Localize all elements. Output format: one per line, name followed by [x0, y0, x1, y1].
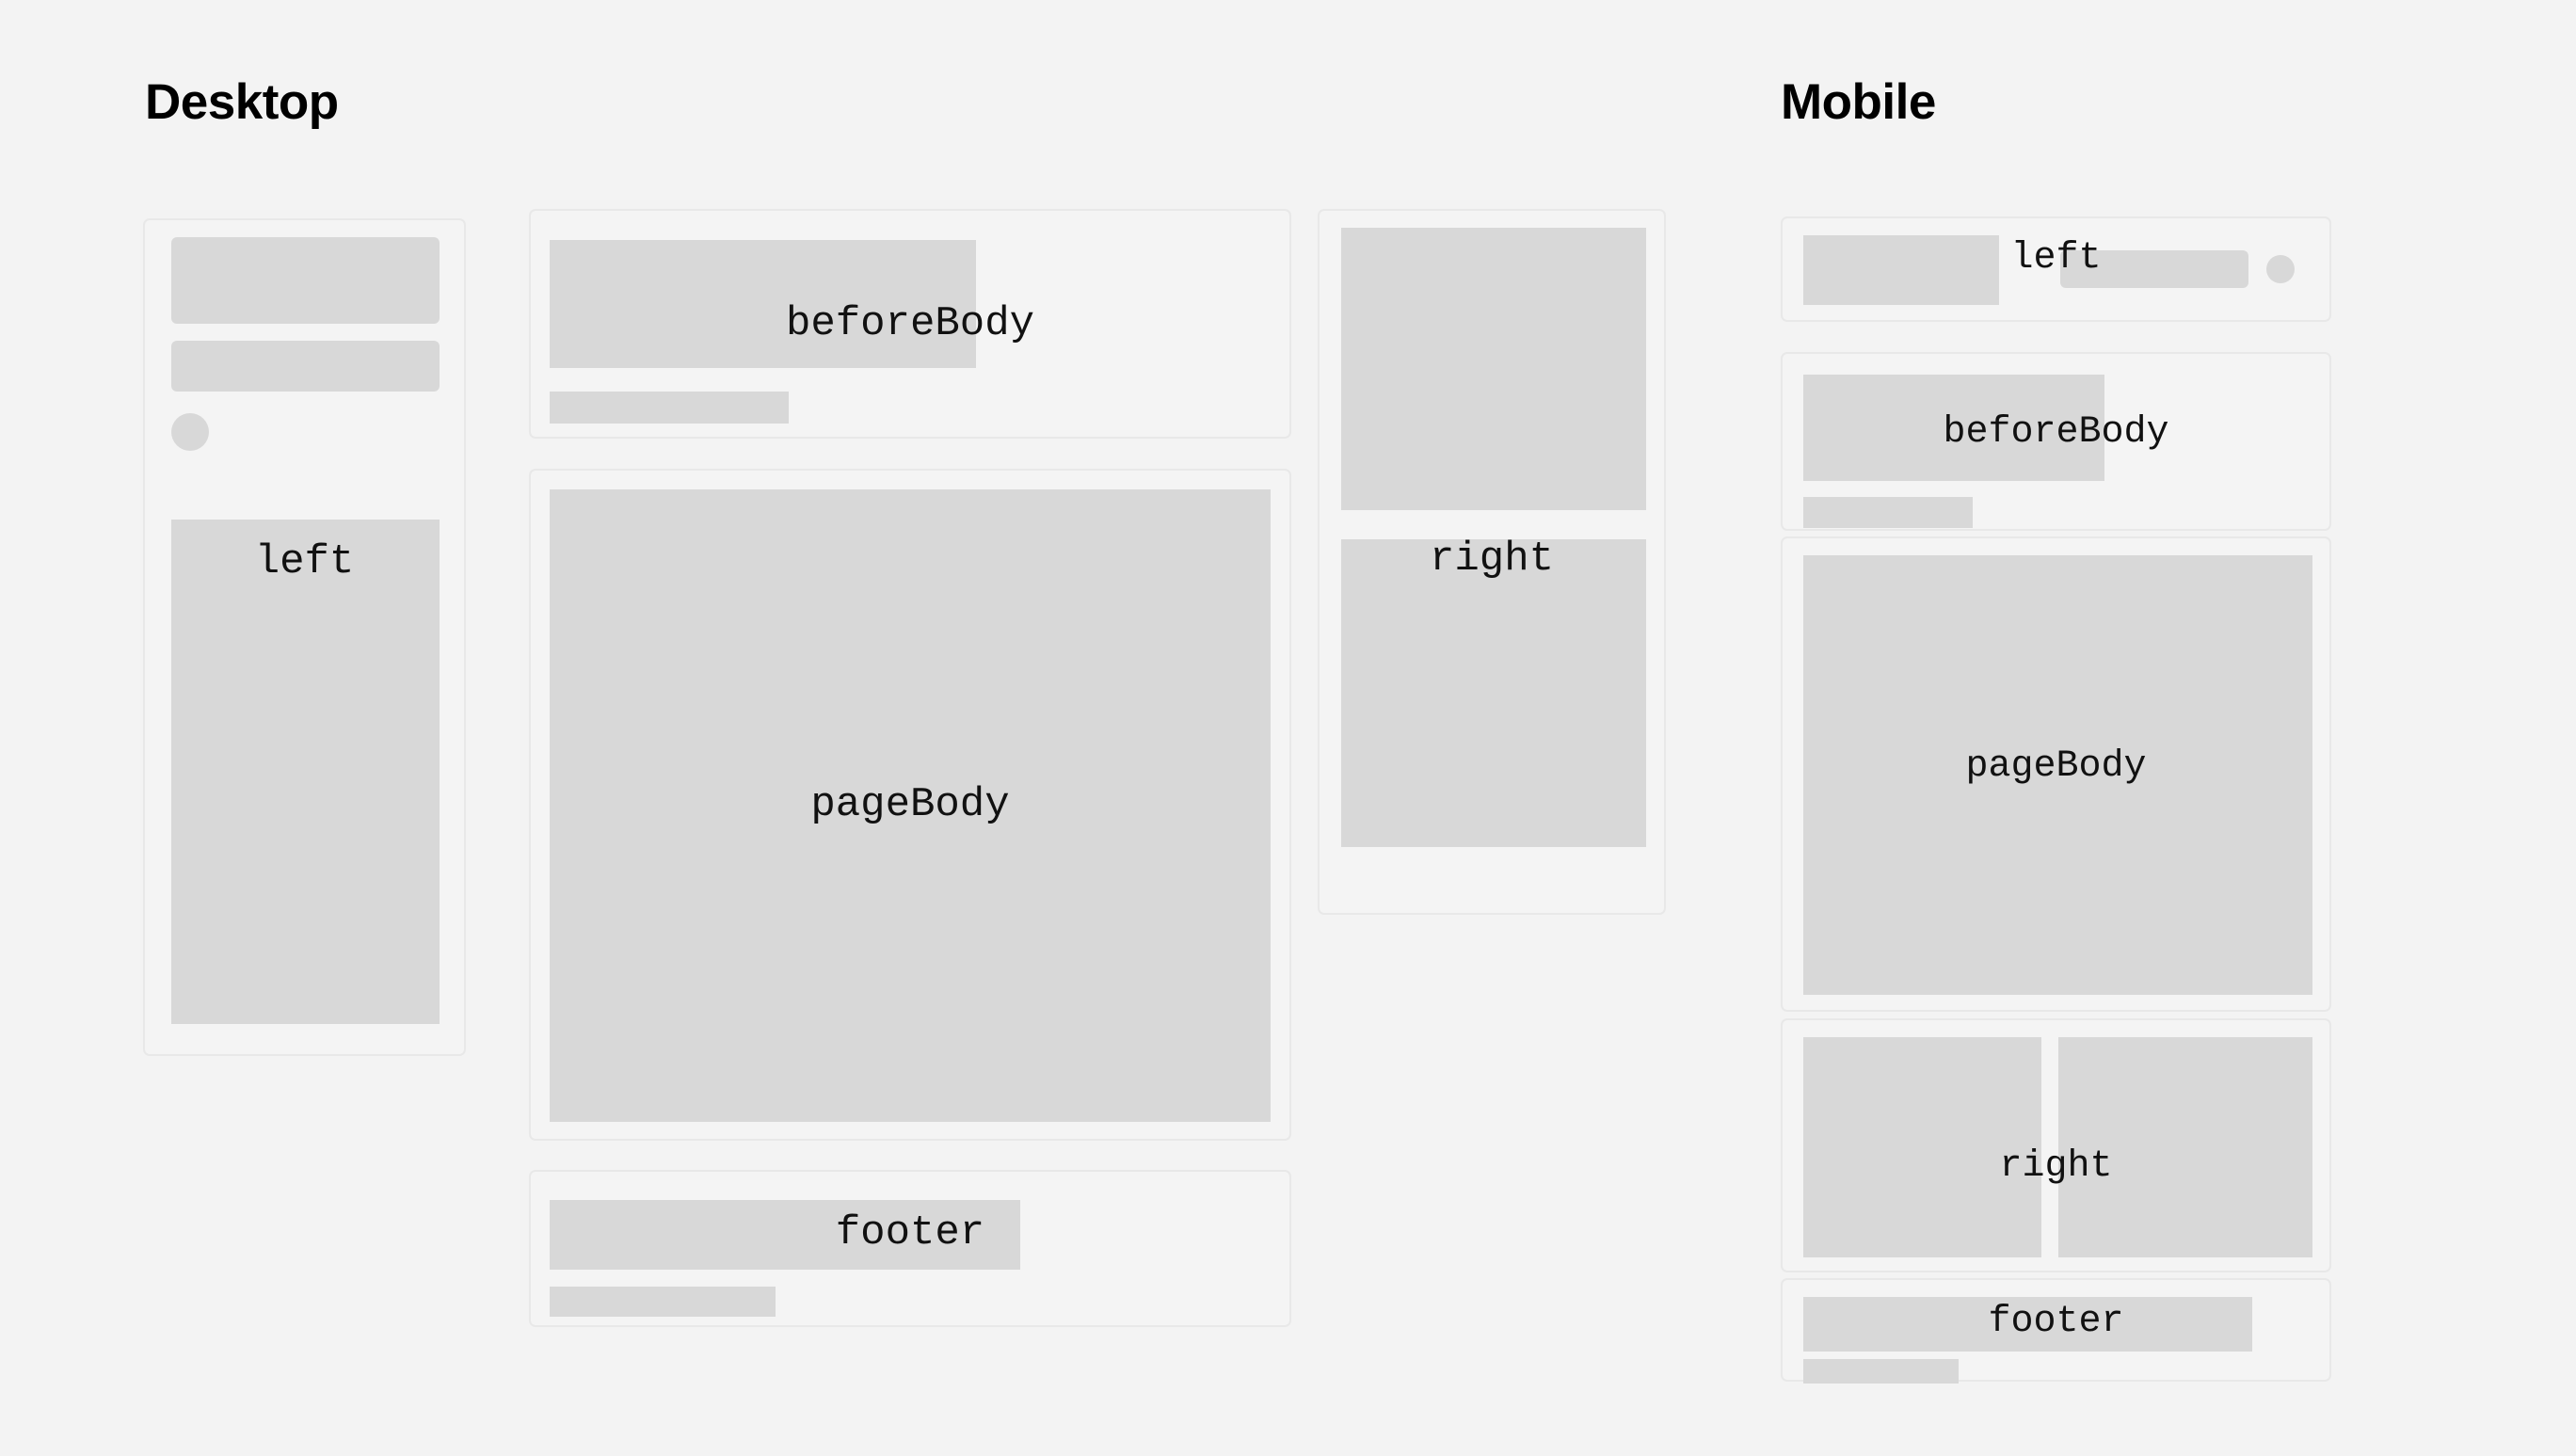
desktop-right-rail-block-top	[1341, 228, 1646, 510]
mobile-page-body-panel[interactable]	[1781, 536, 2331, 1012]
desktop-sidebar-nav-block	[171, 520, 440, 1024]
desktop-right-rail-panel[interactable]	[1318, 209, 1666, 915]
mobile-page-body-content-block	[1803, 555, 2312, 995]
desktop-sidebar-header-block	[171, 237, 440, 324]
desktop-section-title: Desktop	[145, 77, 339, 127]
desktop-before-body-panel[interactable]	[529, 209, 1291, 439]
desktop-footer-block	[550, 1200, 1020, 1270]
mobile-right-rail-block-right	[2058, 1037, 2312, 1257]
mobile-footer-panel[interactable]	[1781, 1278, 2331, 1382]
desktop-page-body-panel[interactable]	[529, 469, 1291, 1141]
mobile-before-body-hero-block	[1803, 375, 2104, 481]
desktop-sidebar-avatar-dot[interactable]	[171, 413, 209, 451]
desktop-right-rail-block-bottom	[1341, 539, 1646, 847]
desktop-footer-panel[interactable]	[529, 1170, 1291, 1327]
desktop-sidebar-panel[interactable]	[143, 218, 466, 1056]
wireframe-stage: Desktop left beforeBody pageBody footer	[0, 0, 2576, 1456]
desktop-footer-bar	[550, 1287, 776, 1317]
desktop-page-body-content-block	[550, 489, 1271, 1122]
mobile-footer-bar	[1803, 1359, 1959, 1384]
mobile-top-bar-panel[interactable]	[1781, 216, 2331, 322]
mobile-right-rail-block-left	[1803, 1037, 2041, 1257]
desktop-before-body-caption-bar	[550, 392, 789, 424]
desktop-before-body-hero-block	[550, 240, 976, 368]
mobile-before-body-caption-bar	[1803, 497, 1973, 528]
mobile-top-bar-avatar-dot[interactable]	[2266, 255, 2295, 283]
mobile-section-title: Mobile	[1781, 77, 1936, 127]
mobile-right-rail-panel[interactable]	[1781, 1018, 2331, 1272]
desktop-sidebar-search-block[interactable]	[171, 341, 440, 392]
mobile-top-bar-search-bar[interactable]	[2060, 250, 2248, 288]
mobile-before-body-panel[interactable]	[1781, 352, 2331, 531]
mobile-top-bar-logo-block	[1803, 235, 1999, 305]
mobile-footer-block	[1803, 1297, 2252, 1352]
